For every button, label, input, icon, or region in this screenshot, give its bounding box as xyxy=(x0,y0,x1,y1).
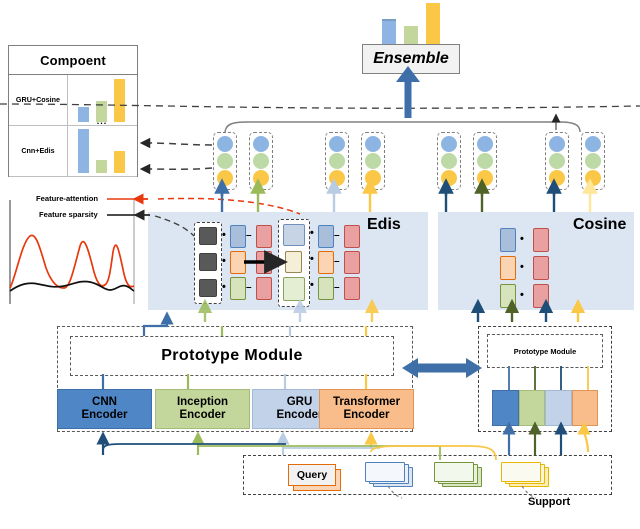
circle-blue xyxy=(585,136,601,152)
dot-operator: • xyxy=(310,280,314,291)
encoder-cnn-line1: CNN xyxy=(92,396,117,409)
chip-red xyxy=(256,251,272,274)
dot-operator: • xyxy=(222,230,226,241)
block-cnn xyxy=(492,390,519,426)
circle-green xyxy=(441,153,457,169)
encoder-cnn[interactable]: CNN Encoder xyxy=(57,389,152,429)
block-transformer xyxy=(572,390,599,426)
chip-gray xyxy=(199,227,217,245)
circle-yellow xyxy=(477,170,493,186)
chip-red xyxy=(533,284,549,308)
support-stack-green[interactable] xyxy=(434,462,478,484)
circle-blue xyxy=(441,136,457,152)
prototype-circle-group xyxy=(581,132,605,190)
ensemble-label: Ensemble xyxy=(373,50,449,68)
prototype-circle-group xyxy=(545,132,569,190)
circle-blue xyxy=(477,136,493,152)
circle-blue xyxy=(549,136,565,152)
chip-red xyxy=(256,225,272,248)
circle-blue xyxy=(365,136,381,152)
dot-operator: • xyxy=(520,234,524,245)
circle-yellow xyxy=(329,170,345,186)
chip-attended-blue xyxy=(283,224,305,246)
chip-red xyxy=(344,277,360,300)
circle-green xyxy=(365,153,381,169)
chip-orange xyxy=(318,251,334,274)
query-box[interactable]: Query xyxy=(288,464,336,486)
minus-operator: – xyxy=(334,283,340,293)
circle-yellow xyxy=(217,170,233,186)
component-table-header: Compoent xyxy=(9,46,137,75)
chip-orange xyxy=(500,256,516,280)
chip-blue xyxy=(318,225,334,248)
chip-red xyxy=(256,277,272,300)
prototype-circle-group xyxy=(213,132,237,190)
circle-blue xyxy=(217,136,233,152)
table-row-label: Cnn+Edis xyxy=(9,126,68,176)
chip-green xyxy=(500,284,516,308)
dot-operator: • xyxy=(310,254,314,265)
cosine-panel-title: Cosine xyxy=(573,216,626,234)
block-inception xyxy=(519,390,546,426)
prototype-module-right: Prototype Module xyxy=(487,334,603,368)
chip-blue xyxy=(230,225,246,248)
prototype-circle-group xyxy=(473,132,497,190)
circle-green xyxy=(549,153,565,169)
circle-green xyxy=(477,153,493,169)
encoder-inception[interactable]: Inception Encoder xyxy=(155,389,250,429)
support-stack-blue[interactable] xyxy=(365,462,409,484)
circle-green xyxy=(217,153,233,169)
circle-green xyxy=(585,153,601,169)
prototype-module-left: Prototype Module xyxy=(70,336,394,376)
block-gru xyxy=(545,390,572,426)
bar xyxy=(382,19,396,44)
support-sheet xyxy=(501,462,541,482)
support-label: Support xyxy=(528,496,570,508)
right-module-blocks xyxy=(492,390,598,426)
legend-label-feature-attention: Feature-attention xyxy=(36,194,98,203)
encoder-inception-line2: Encoder xyxy=(179,409,225,422)
table-row: Cnn+Edis xyxy=(9,126,137,177)
encoder-transformer-line1: Transformer xyxy=(333,396,400,409)
prototype-module-right-label: Prototype Module xyxy=(514,347,576,356)
dot-operator: • xyxy=(222,256,226,267)
bar xyxy=(404,26,418,44)
bar xyxy=(426,3,440,44)
chip-gray xyxy=(199,279,217,297)
chip-red xyxy=(533,256,549,280)
dot-operator: • xyxy=(520,262,524,273)
circle-yellow xyxy=(253,170,269,186)
chip-green xyxy=(230,277,246,300)
circle-yellow xyxy=(441,170,457,186)
bar xyxy=(78,129,89,173)
support-sheet xyxy=(434,462,474,482)
table-row-label: GRU+Cosine xyxy=(9,75,68,125)
legend-label-feature-sparsity: Feature sparsity xyxy=(39,210,98,219)
circle-green xyxy=(329,153,345,169)
circle-blue xyxy=(329,136,345,152)
table-row-barchart xyxy=(68,126,137,176)
encoder-gru-line1: GRU xyxy=(287,396,313,409)
prototype-circle-group xyxy=(437,132,461,190)
circle-yellow xyxy=(365,170,381,186)
circle-yellow xyxy=(585,170,601,186)
prototype-circle-group xyxy=(325,132,349,190)
edis-panel-title: Edis xyxy=(367,216,401,234)
circle-blue xyxy=(253,136,269,152)
encoder-inception-line1: Inception xyxy=(177,396,228,409)
encoder-gru-line2: Encoder xyxy=(276,409,322,422)
minus-operator: – xyxy=(246,231,252,241)
chip-red xyxy=(344,251,360,274)
prototype-module-left-label: Prototype Module xyxy=(161,347,303,365)
chip-red xyxy=(533,228,549,252)
dot-operator: • xyxy=(520,290,524,301)
support-sheet xyxy=(365,462,405,482)
chip-blue xyxy=(500,228,516,252)
table-ellipsis: ... xyxy=(67,116,137,126)
dot-operator: • xyxy=(222,282,226,293)
encoder-transformer-line2: Encoder xyxy=(343,409,389,422)
encoder-transformer[interactable]: Transformer Encoder xyxy=(319,389,414,429)
component-table: Compoent GRU+Cosine Cnn+Edis ... xyxy=(8,45,138,177)
chip-orange xyxy=(230,251,246,274)
minus-operator: – xyxy=(334,231,340,241)
bar xyxy=(114,151,125,173)
minus-operator: – xyxy=(246,257,252,267)
bar xyxy=(96,160,107,173)
support-stack-yellow[interactable] xyxy=(501,462,545,484)
prototype-circle-group xyxy=(249,132,273,190)
encoder-cnn-line2: Encoder xyxy=(81,409,127,422)
ensemble-box: Ensemble xyxy=(362,44,460,74)
chip-attended-green xyxy=(283,277,305,301)
chip-attended-cream xyxy=(285,251,302,273)
query-label: Query xyxy=(297,469,327,481)
chip-red xyxy=(344,225,360,248)
ensemble-barchart xyxy=(362,2,458,44)
chip-green xyxy=(318,277,334,300)
circle-green xyxy=(253,153,269,169)
prototype-circle-group xyxy=(361,132,385,190)
chip-gray xyxy=(199,253,217,271)
circle-yellow xyxy=(549,170,565,186)
minus-operator: – xyxy=(246,283,252,293)
minus-operator: – xyxy=(334,257,340,267)
dot-operator: • xyxy=(310,228,314,239)
